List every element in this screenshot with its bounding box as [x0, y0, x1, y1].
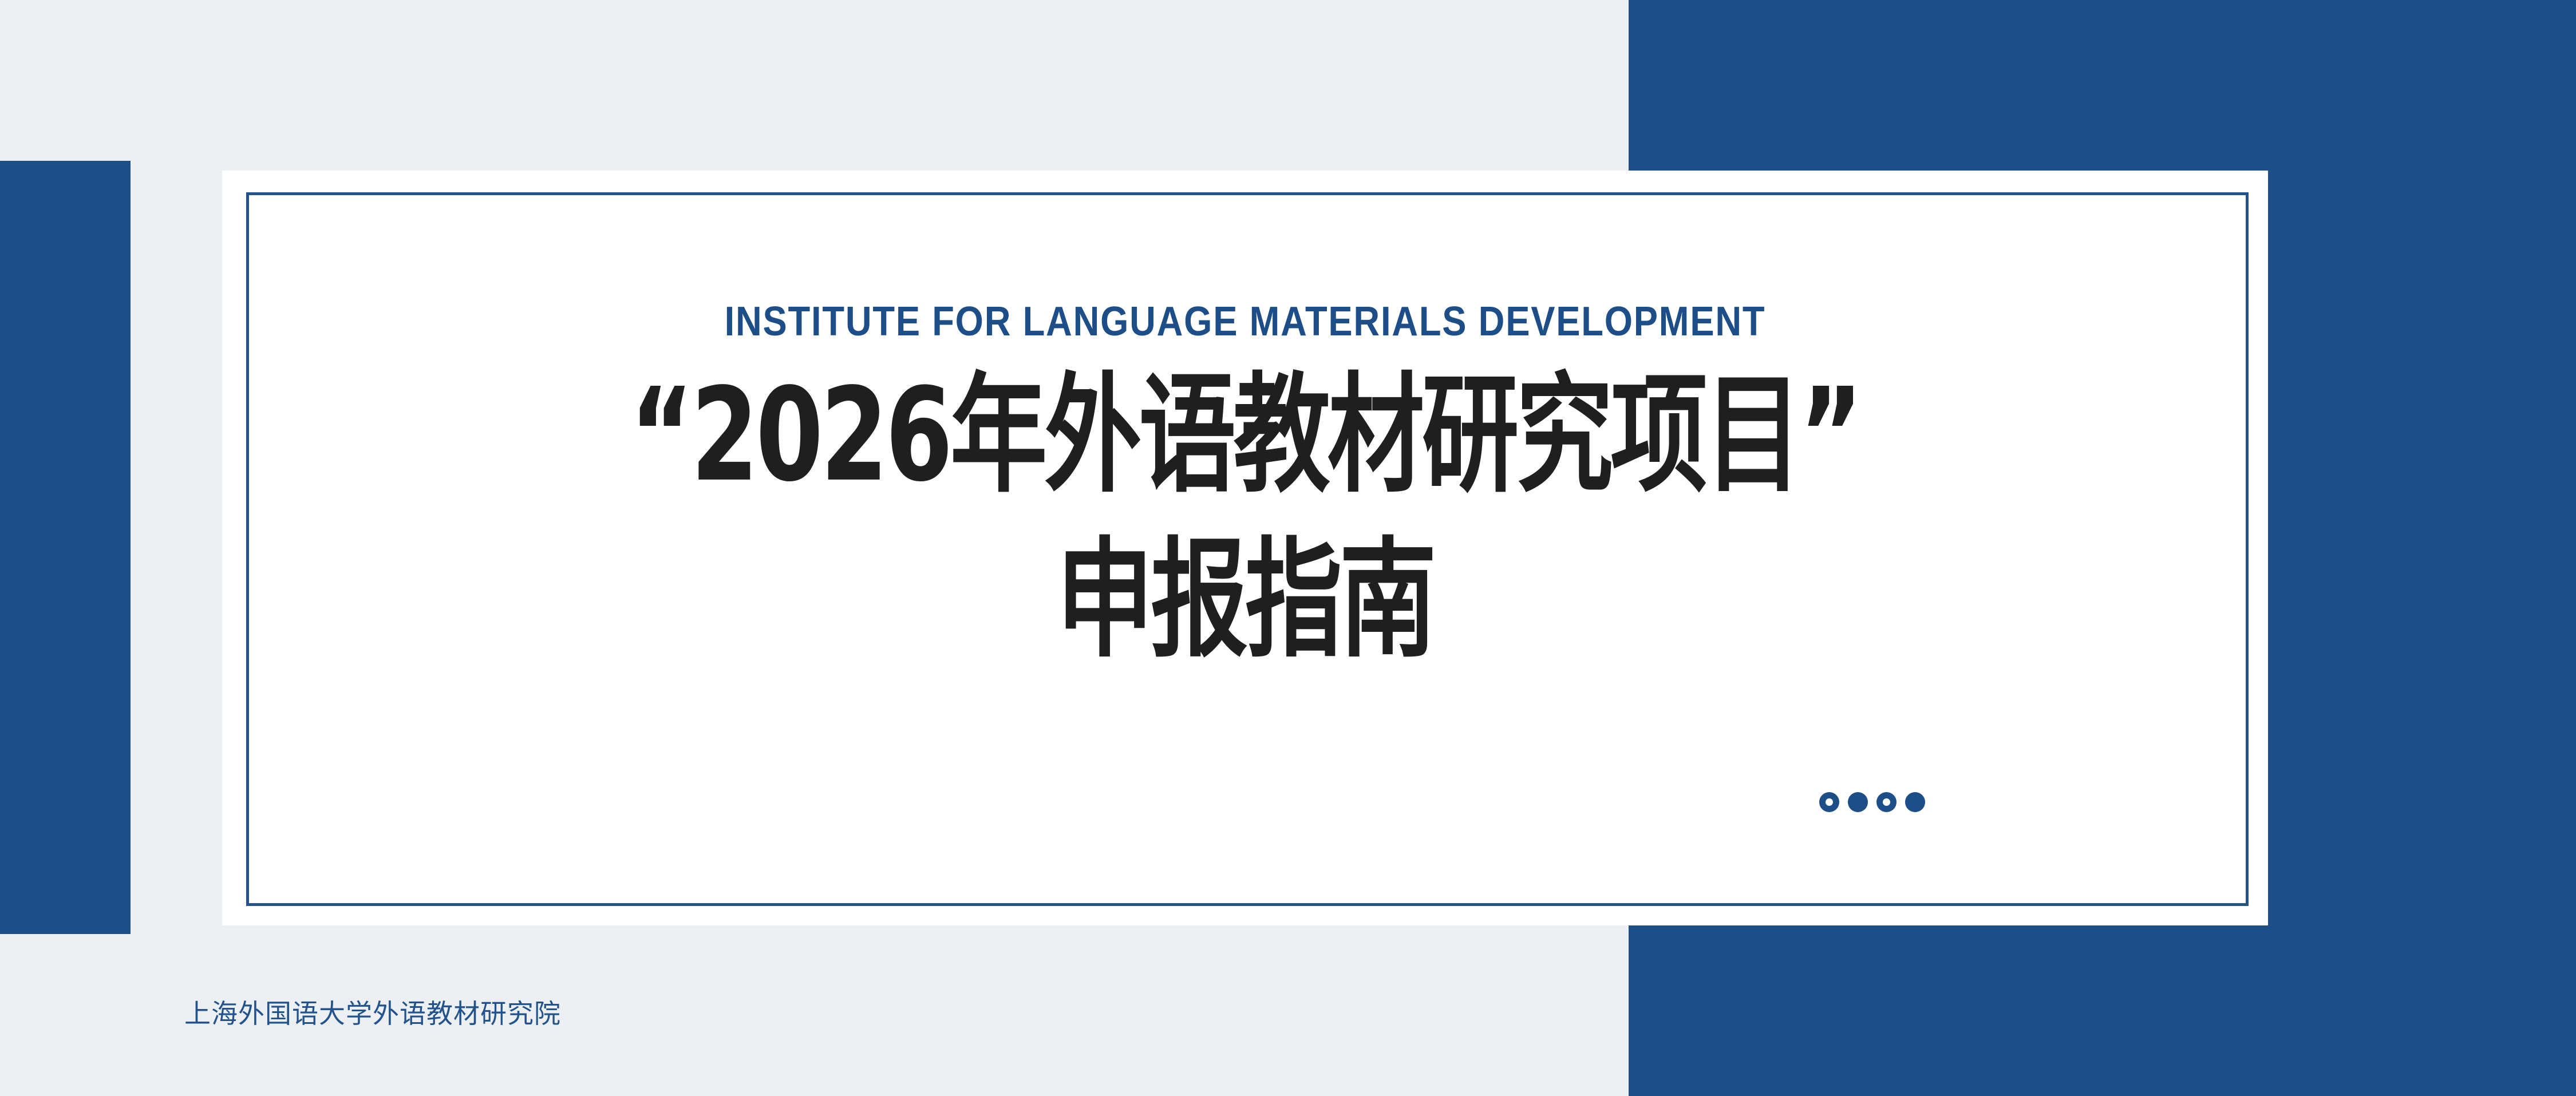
- title-card: INSTITUTE FOR LANGUAGE MATERIALS DEVELOP…: [222, 171, 2268, 925]
- dot-ring-icon: [1819, 792, 1839, 812]
- main-title: “2026年外语教材研究项目” 申报指南: [222, 359, 2268, 667]
- slide-canvas: INSTITUTE FOR LANGUAGE MATERIALS DEVELOP…: [0, 0, 2576, 1096]
- decorative-block-left: [0, 161, 131, 934]
- dots-ornament: [1819, 792, 1925, 812]
- dot-ring-icon: [1876, 792, 1897, 812]
- title-line-1: “2026年外语教材研究项目”: [426, 359, 2063, 511]
- card-content: INSTITUTE FOR LANGUAGE MATERIALS DEVELOP…: [222, 171, 2268, 925]
- institute-eyebrow-text: INSTITUTE FOR LANGUAGE MATERIALS DEVELOP…: [345, 301, 2145, 342]
- dot-solid-icon: [1905, 792, 1925, 812]
- footer-organization: 上海外国语大学外语教材研究院: [184, 1000, 561, 1027]
- dot-solid-icon: [1848, 792, 1868, 812]
- title-line-2: 申报指南: [426, 524, 2063, 676]
